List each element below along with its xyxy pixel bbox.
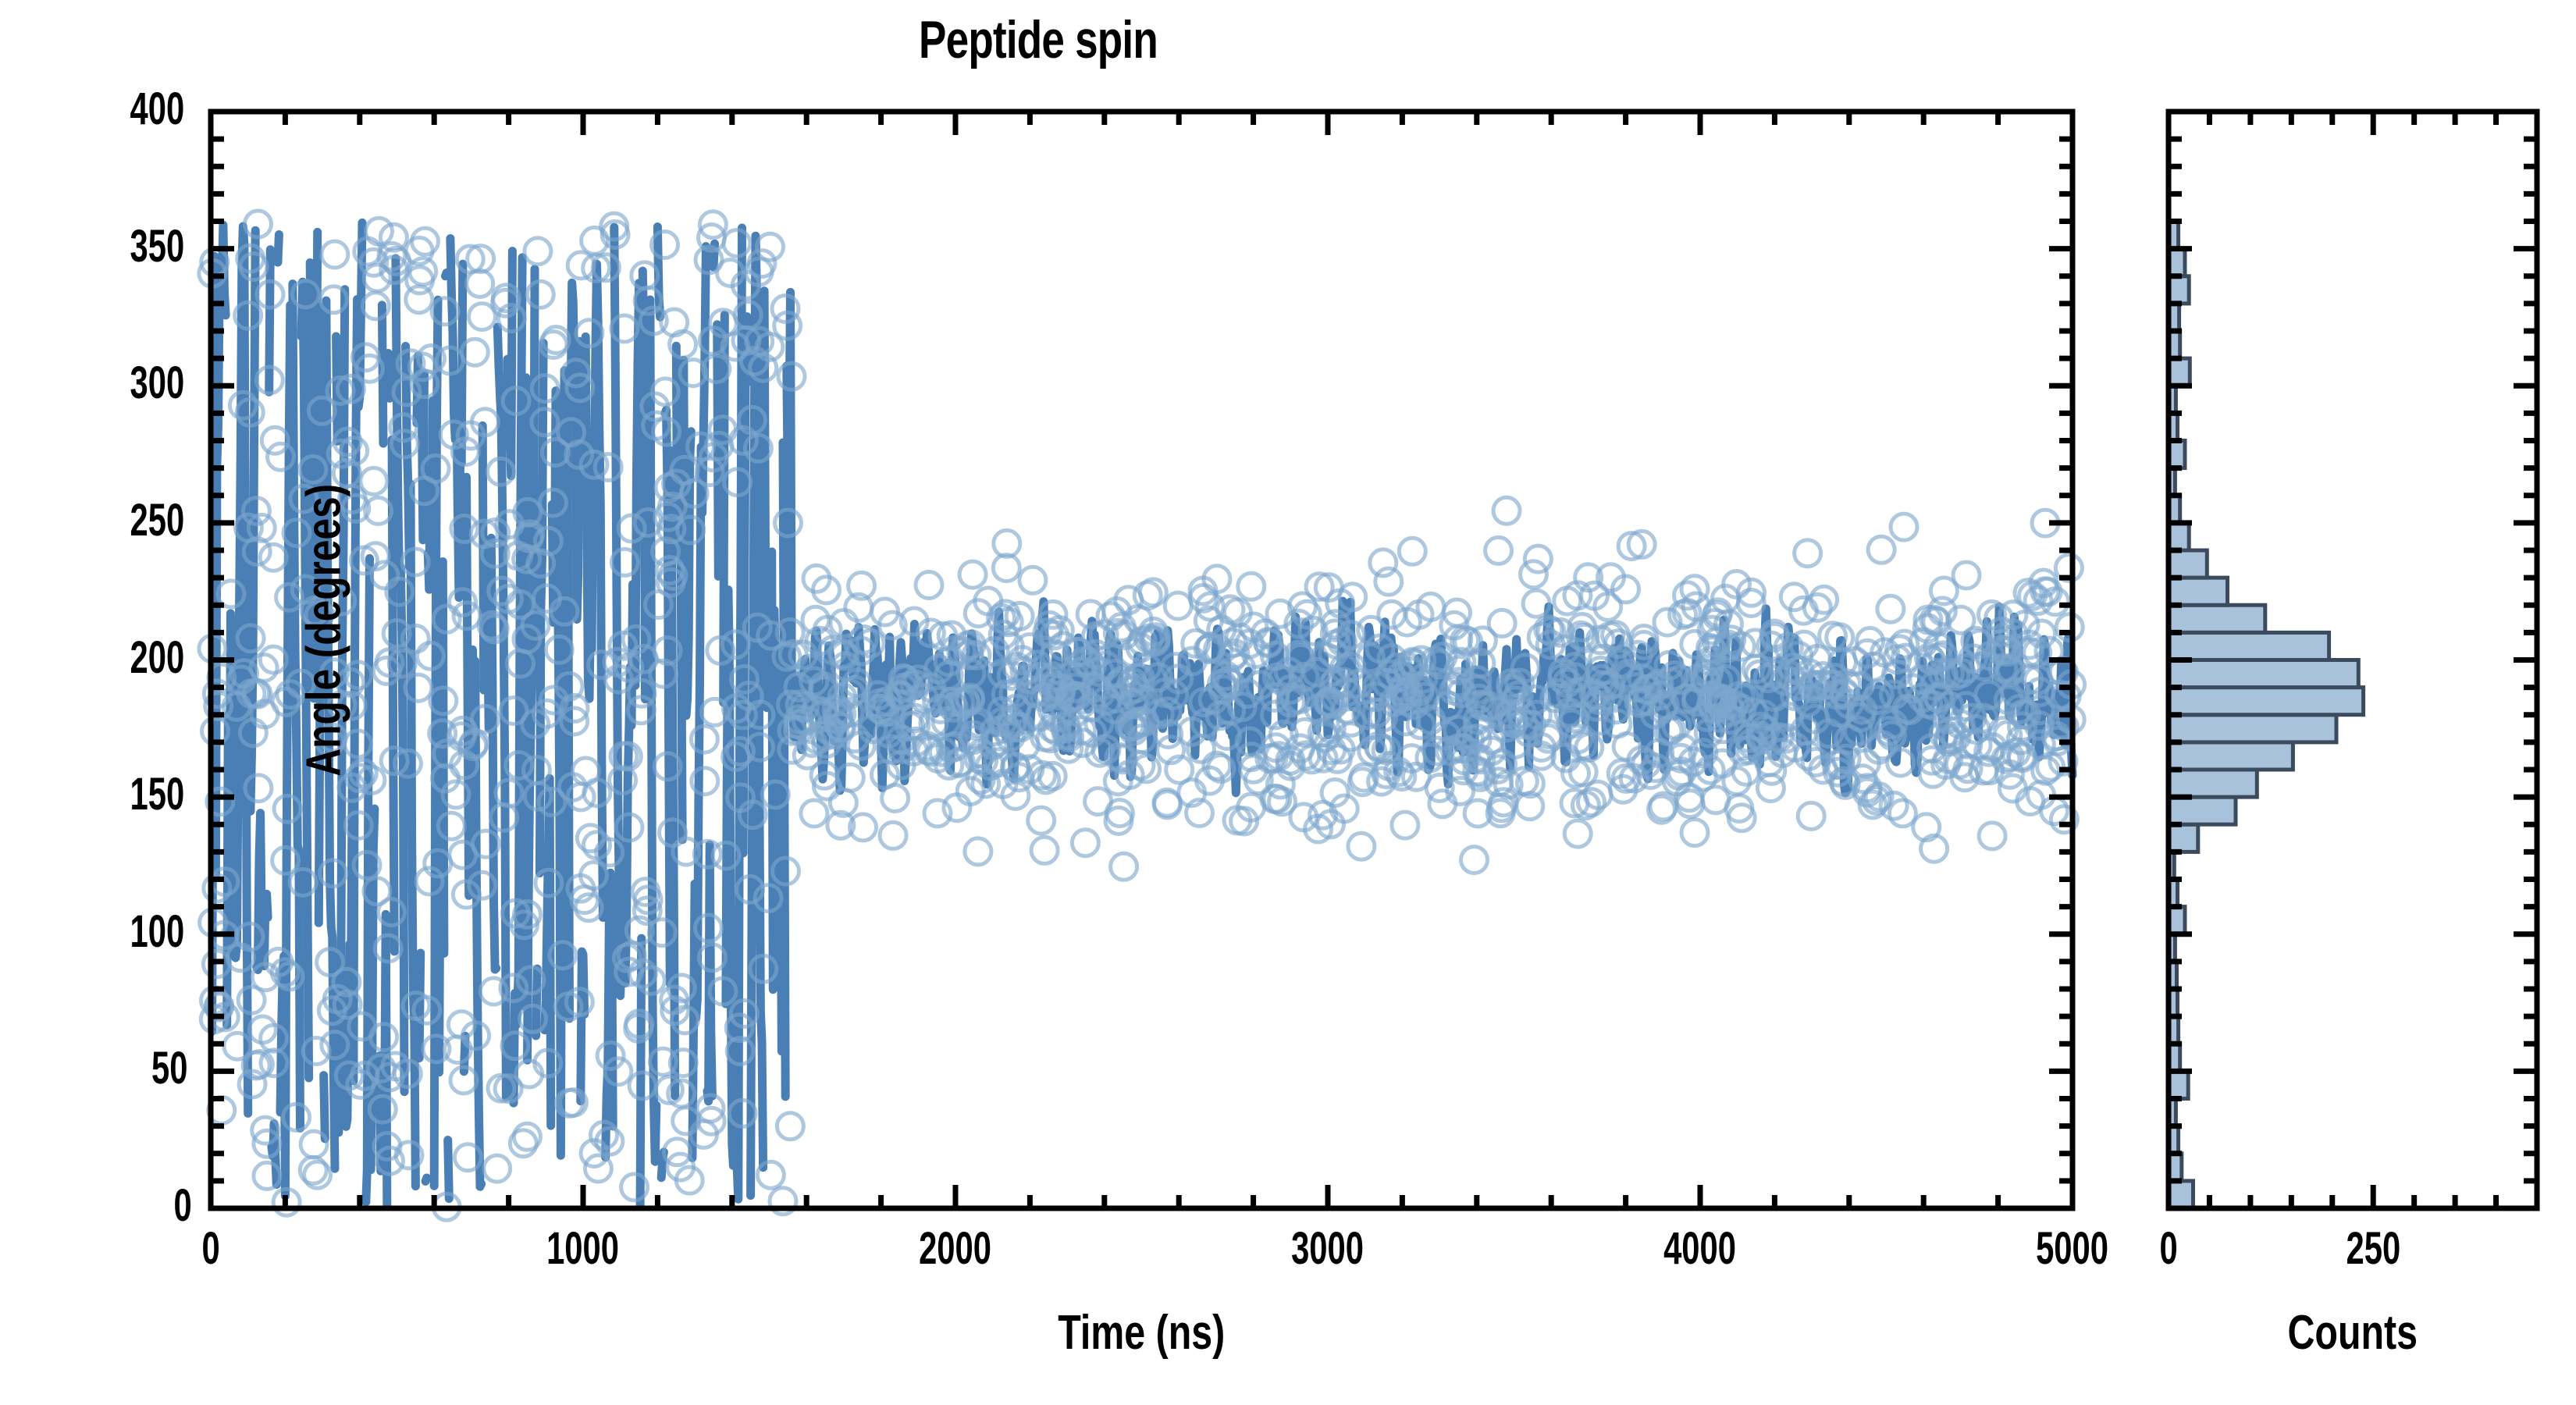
y-tick-label: 400: [8, 83, 195, 135]
scatter-marker: [916, 572, 942, 599]
histogram-bar: [2169, 1181, 2194, 1208]
histogram-bar-group: [2169, 222, 2364, 1209]
scatter-marker: [262, 427, 288, 454]
scatter-marker: [260, 544, 286, 571]
scatter-marker: [965, 838, 991, 865]
histogram-bar: [2169, 1071, 2188, 1098]
histogram-bar: [2169, 605, 2265, 632]
trace-line-segment: [783, 443, 785, 1097]
scatter-marker: [364, 265, 390, 291]
y-tick-label-text: 200: [130, 631, 185, 684]
scatter-marker: [1111, 853, 1137, 880]
hist-x-tick-label-text: 0: [2159, 1222, 2177, 1275]
histogram-bar: [2169, 550, 2207, 578]
scatter-marker: [1019, 567, 1046, 593]
y-tick-label-text: 400: [130, 83, 185, 135]
scatter-marker: [1031, 837, 1058, 863]
x-axis-label-hist: Counts: [2169, 1305, 2537, 1361]
scatter-marker: [1521, 561, 1547, 588]
figure-canvas: Peptide spin Time (ns) Angle (degrees) C…: [0, 0, 2576, 1405]
y-tick-label: 350: [8, 220, 195, 272]
scatter-marker: [525, 238, 551, 265]
scatter-marker: [1953, 562, 1980, 589]
trace-line-segment: [450, 239, 463, 598]
trace-line-segment: [446, 273, 447, 276]
scatter-marker: [1681, 820, 1708, 846]
scatter-marker: [1392, 812, 1418, 838]
hist-x-tick-label-text: 250: [2346, 1222, 2400, 1275]
x-tick-label: 3000: [1219, 1222, 1437, 1275]
trace-line-segment: [269, 250, 271, 393]
x-axis-label-hist-text: Counts: [2288, 1305, 2418, 1361]
hist-x-tick-label: 0: [2059, 1222, 2278, 1275]
histogram-bar: [2169, 688, 2364, 715]
y-tick-label: 100: [8, 905, 195, 958]
histogram-bar: [2169, 632, 2329, 660]
scatter-marker: [1877, 596, 1904, 622]
x-tick-label-text: 1000: [547, 1222, 620, 1275]
trace-line-segment: [717, 325, 719, 577]
y-axis-label-main: Angle (degrees): [297, 76, 352, 1185]
scatter-marker: [1891, 514, 1917, 540]
scatter-marker: [1493, 497, 1520, 524]
scatter-marker: [1811, 586, 1838, 613]
scatter-marker: [1375, 568, 1402, 595]
histogram-bar: [2169, 660, 2358, 688]
scatter-marker: [1072, 830, 1098, 856]
x-tick-label: 2000: [846, 1222, 1065, 1275]
histogram-bar: [2169, 824, 2198, 852]
x-axis-label-main-text: Time (ns): [1058, 1305, 1225, 1361]
scatter-marker: [467, 270, 493, 297]
histogram-bar: [2169, 276, 2189, 304]
trace-line-segment: [388, 354, 390, 399]
y-tick-label: 250: [8, 494, 195, 546]
trace-line-segment: [536, 969, 538, 1036]
scatter-marker: [1798, 802, 1824, 829]
scatter-marker: [1489, 610, 1515, 636]
trace-line-segment: [448, 1140, 450, 1199]
y-axis-label-main-text: Angle (degrees): [297, 484, 352, 777]
histogram-bar: [2169, 715, 2336, 742]
trace-line-segment: [764, 291, 781, 1051]
y-tick-label-text: 350: [130, 220, 185, 272]
y-tick-label: 150: [8, 768, 195, 820]
x-tick-label-text: 3000: [1292, 1222, 1364, 1275]
y-tick-label-text: 150: [130, 768, 185, 820]
histogram-bar: [2169, 523, 2189, 550]
x-axis-label-main: Time (ns): [211, 1305, 2073, 1361]
scatter-marker: [484, 1155, 511, 1182]
scatter-marker: [1979, 823, 2005, 849]
y-tick-label-text: 50: [152, 1042, 188, 1094]
scatter-marker: [959, 561, 986, 588]
y-tick-label: 50: [8, 1042, 195, 1094]
scatter-marker: [1165, 592, 1191, 619]
x-tick-label: 0: [101, 1222, 320, 1275]
histogram-bar: [2169, 358, 2190, 386]
y-tick-label: 300: [8, 357, 195, 409]
scatter-marker: [757, 1161, 784, 1188]
histogram-bar: [2169, 578, 2228, 605]
trace-line-segment: [606, 873, 614, 1157]
scatter-marker: [1348, 833, 1375, 859]
scatter-marker: [1028, 807, 1055, 834]
scatter-marker: [1523, 590, 1550, 617]
scatter-marker: [406, 286, 432, 313]
trace-line-segment: [585, 264, 603, 917]
x-tick-label: 4000: [1591, 1222, 1809, 1275]
scatter-marker: [1399, 538, 1425, 564]
scatter-marker: [1085, 788, 1112, 815]
scatter-marker: [1461, 847, 1488, 873]
x-tick-label-text: 0: [201, 1222, 219, 1275]
scatter-marker: [1868, 536, 1895, 563]
x-tick-label: 1000: [474, 1222, 692, 1275]
scatter-marker: [469, 304, 496, 330]
x-tick-label-text: 4000: [1664, 1222, 1737, 1275]
trace-line-segment: [419, 953, 421, 1058]
scatter-marker: [1564, 820, 1591, 847]
x-tick-label-text: 2000: [920, 1222, 992, 1275]
scatter-marker: [1238, 573, 1265, 599]
y-tick-label-text: 300: [130, 357, 185, 409]
scatter-marker: [880, 822, 906, 848]
scatter-marker: [757, 233, 784, 260]
y-tick-label: 200: [8, 631, 195, 684]
histogram-bar: [2169, 742, 2293, 770]
trace-line-segment: [581, 951, 585, 1101]
scatter-marker: [1795, 540, 1821, 567]
scatter-marker: [1757, 775, 1784, 802]
hist-x-tick-label: 250: [2264, 1222, 2482, 1275]
scatter-marker: [777, 1113, 803, 1140]
histogram-bar: [2169, 797, 2236, 824]
trace-line-segment: [684, 360, 692, 716]
plot-area: [0, 0, 2576, 1405]
trace-line-segment: [707, 845, 712, 1101]
scatter-marker: [801, 800, 827, 827]
histogram-bar: [2169, 770, 2257, 797]
scatter-marker: [1485, 537, 1512, 564]
y-tick-label-text: 250: [130, 494, 185, 546]
trace-line-segment: [278, 235, 279, 263]
trace-line-segment: [425, 1178, 427, 1181]
scatter-marker: [1370, 550, 1397, 576]
y-tick-label-text: 100: [130, 905, 185, 958]
